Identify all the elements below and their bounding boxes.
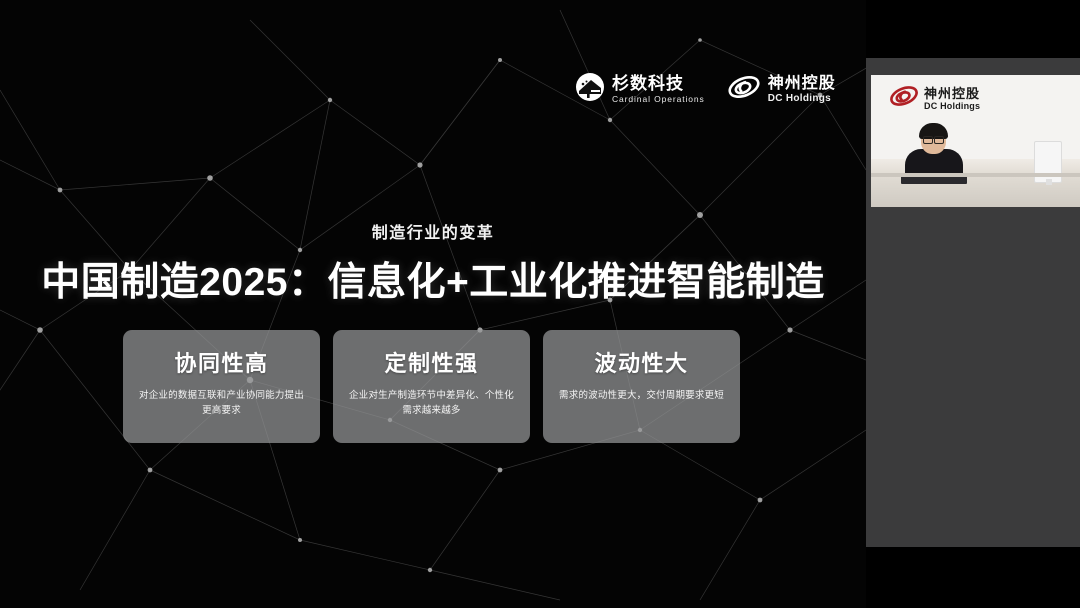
glasses-icon	[923, 136, 944, 142]
slide-eyebrow: 制造行业的变革	[0, 219, 866, 243]
feature-card-title: 定制性强	[384, 346, 478, 378]
screen: 杉数科技 Cardinal Operations 神州控股 DC Holding…	[0, 0, 1080, 608]
feature-card-desc: 需求的波动性更大，交付周期要求更短	[559, 389, 724, 404]
feature-card-title: 协同性高	[174, 346, 268, 378]
feature-card-title: 波动性大	[594, 346, 688, 378]
panel-top-filler	[866, 0, 1080, 58]
dc-holdings-swirl-mark	[889, 83, 919, 114]
logo-cardinal-en: Cardinal Operations	[612, 95, 705, 104]
presentation-slide: 杉数科技 Cardinal Operations 神州控股 DC Holding…	[0, 0, 866, 608]
dc-holdings-swirl-mark	[727, 73, 761, 106]
speaker-video-feed[interactable]: 神州控股 DC Holdings	[871, 75, 1080, 207]
feature-card-desc: 对企业的数据互联和产业协同能力提出更高要求	[139, 389, 304, 418]
slide-logo-bar: 杉数科技 Cardinal Operations 神州控股 DC Holding…	[575, 72, 836, 107]
cardinal-circle-mark	[575, 72, 605, 107]
backdrop-logo-dc-holdings: 神州控股 DC Holdings	[889, 83, 980, 114]
logo-cardinal-cn: 杉数科技	[612, 75, 705, 92]
panel-bottom-filler	[866, 547, 1080, 608]
feature-card: 波动性大 需求的波动性更大，交付周期要求更短	[543, 330, 740, 443]
logo-dc-holdings: 神州控股 DC Holdings	[727, 73, 836, 106]
feature-cards: 协同性高 对企业的数据互联和产业协同能力提出更高要求 定制性强 企业对生产制造环…	[123, 330, 740, 443]
logo-cardinal-operations: 杉数科技 Cardinal Operations	[575, 72, 705, 107]
logo-dc-en: DC Holdings	[768, 94, 836, 104]
backdrop-logo-en: DC Holdings	[924, 102, 980, 111]
backdrop-logo-cn: 神州控股	[924, 87, 980, 100]
feature-card-desc: 企业对生产制造环节中差异化、个性化需求越来越多	[349, 389, 514, 418]
feature-card: 协同性高 对企业的数据互联和产业协同能力提出更高要求	[123, 330, 320, 443]
feature-card: 定制性强 企业对生产制造环节中差异化、个性化需求越来越多	[333, 330, 530, 443]
logo-dc-cn: 神州控股	[768, 76, 836, 92]
slide-headline: 中国制造2025：信息化+工业化推进智能制造	[0, 251, 866, 307]
speaker-video-panel[interactable]: 神州控股 DC Holdings	[866, 58, 1080, 547]
monitor-stand	[1046, 179, 1052, 185]
desk-edge	[871, 173, 1080, 177]
